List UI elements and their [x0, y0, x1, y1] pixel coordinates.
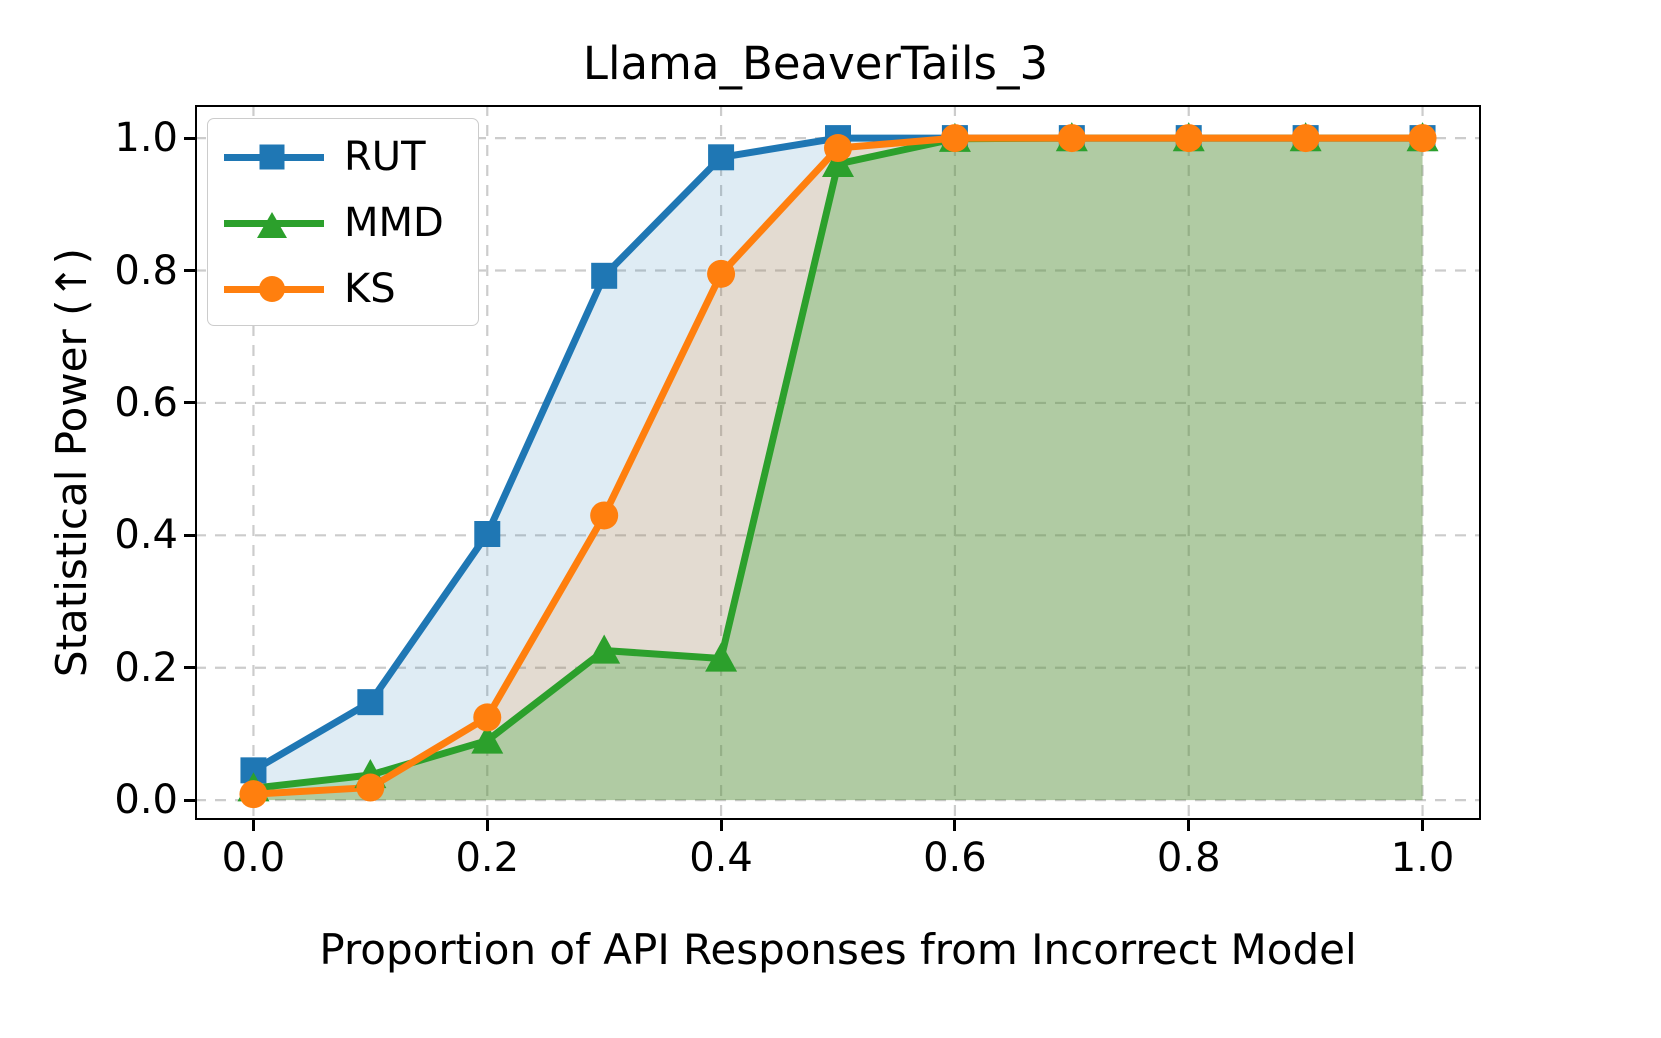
- x-tick-mark: [486, 820, 489, 831]
- chart-legend[interactable]: RUT MMD KS: [207, 118, 479, 326]
- legend-label-rut: RUT: [344, 137, 426, 177]
- legend-swatch-mmd: [222, 203, 326, 243]
- marker-rut: [474, 521, 500, 547]
- circle-icon: [259, 276, 285, 302]
- y-tick-label: 0.2: [78, 648, 178, 688]
- y-tick-mark: [184, 269, 195, 272]
- y-tick-mark: [184, 666, 195, 669]
- x-tick-labels: 0.00.20.40.60.81.0: [0, 838, 1661, 898]
- legend-swatch-rut: [222, 137, 326, 177]
- y-tick-label: 0.6: [78, 383, 178, 423]
- x-tick-mark: [953, 820, 956, 831]
- legend-swatch-ks: [222, 269, 326, 309]
- x-tick-label: 0.6: [885, 838, 1025, 878]
- marker-ks: [941, 124, 969, 152]
- y-tick-label: 1.0: [78, 118, 178, 158]
- marker-rut: [357, 689, 383, 715]
- y-tick-label: 0.4: [78, 515, 178, 555]
- marker-rut: [708, 144, 734, 170]
- y-tick-mark: [184, 137, 195, 140]
- marker-ks: [707, 260, 735, 288]
- marker-ks: [1175, 124, 1203, 152]
- legend-item-rut[interactable]: RUT: [208, 125, 480, 189]
- x-tick-label: 0.8: [1119, 838, 1259, 878]
- chart-figure: Llama_BeaverTails_3 Statistical Power (↑…: [0, 0, 1661, 1038]
- x-tick-mark: [720, 820, 723, 831]
- marker-ks: [824, 134, 852, 162]
- marker-ks: [1409, 124, 1437, 152]
- legend-label-ks: KS: [344, 269, 396, 309]
- y-tick-mark: [184, 799, 195, 802]
- x-tick-label: 1.0: [1353, 838, 1493, 878]
- x-tick-mark: [1421, 820, 1424, 831]
- x-tick-label: 0.0: [183, 838, 323, 878]
- marker-ks: [590, 501, 618, 529]
- chart-title-text: Llama_BeaverTails_3: [0, 38, 1661, 90]
- marker-ks: [239, 780, 267, 808]
- x-axis-label: Proportion of API Responses from Incorre…: [195, 925, 1481, 975]
- x-tick-label: 0.4: [651, 838, 791, 878]
- marker-ks: [473, 703, 501, 731]
- triangle-icon: [257, 212, 287, 238]
- y-tick-mark: [184, 401, 195, 404]
- x-tick-mark: [252, 820, 255, 831]
- marker-rut: [591, 263, 617, 289]
- legend-item-mmd[interactable]: MMD: [208, 191, 480, 255]
- y-tick-mark: [184, 534, 195, 537]
- x-tick-label: 0.2: [417, 838, 557, 878]
- marker-ks: [1058, 124, 1086, 152]
- chart-title: Llama_BeaverTails_3: [0, 38, 1661, 90]
- square-icon: [260, 145, 285, 170]
- legend-label-mmd: MMD: [344, 203, 444, 243]
- y-tick-label: 0.0: [78, 780, 178, 820]
- x-tick-mark: [1187, 820, 1190, 831]
- y-tick-label: 0.8: [78, 251, 178, 291]
- marker-ks: [356, 774, 384, 802]
- marker-ks: [1292, 124, 1320, 152]
- legend-item-ks[interactable]: KS: [208, 257, 480, 321]
